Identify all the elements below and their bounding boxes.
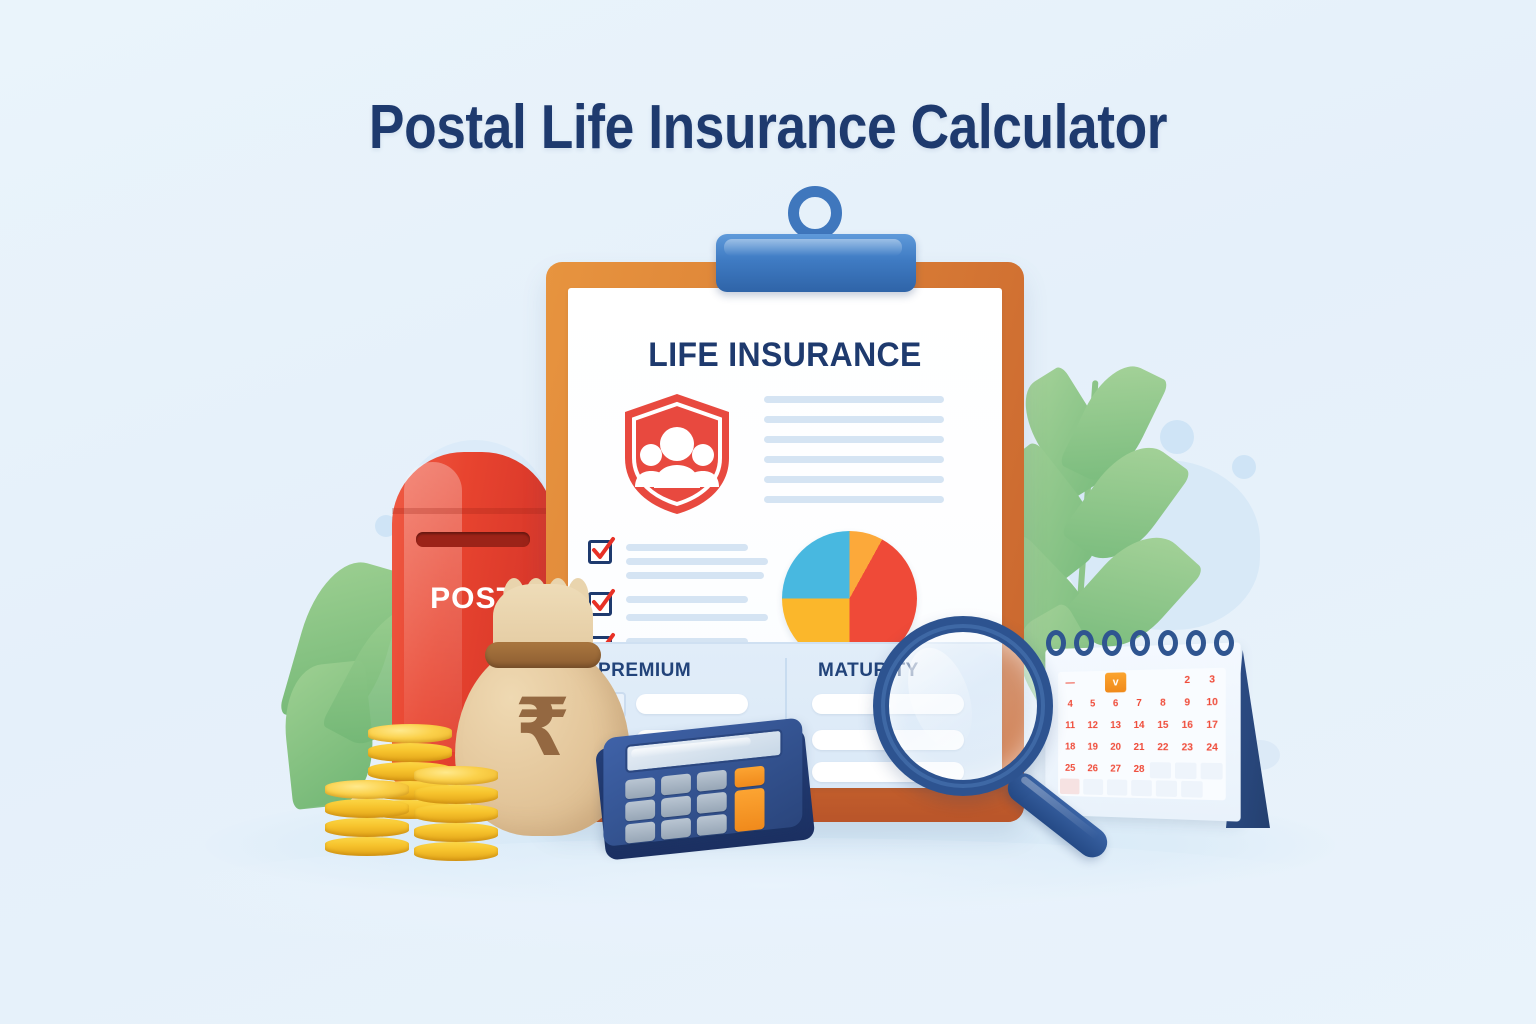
- postbox-band: [392, 508, 554, 514]
- coin-stack-left: [325, 780, 409, 880]
- calculator[interactable]: [594, 717, 816, 868]
- calendar-grid: — v 2 3 4 5 6 7 8 9 10 11 12 13 14 15 16…: [1058, 668, 1226, 801]
- calculator-function-key[interactable]: [735, 788, 765, 832]
- calculator-key[interactable]: [661, 795, 691, 817]
- calculator-key[interactable]: [697, 770, 727, 792]
- calendar-sheet: — v 2 3 4 5 6 7 8 9 10 11 12 13 14 15 16…: [1045, 642, 1240, 821]
- calculator-equals-key[interactable]: [735, 766, 765, 788]
- decorative-circle: [1232, 455, 1256, 479]
- calculator-key[interactable]: [661, 773, 691, 795]
- calculator-key[interactable]: [625, 821, 655, 843]
- family-shield-icon: [621, 392, 733, 516]
- magnifying-glass[interactable]: [873, 616, 1073, 866]
- calculator-key[interactable]: [625, 777, 655, 799]
- clipboard-clip-icon: [716, 216, 916, 294]
- calculator-face: [603, 717, 802, 847]
- clip-bar: [716, 234, 916, 292]
- clip-ring: [788, 186, 842, 240]
- calculator-key[interactable]: [697, 814, 727, 836]
- illustration-stage: Postal Life Insurance Calculator — v: [0, 0, 1536, 1024]
- calendar-highlight-cell: v: [1105, 672, 1126, 692]
- decorative-circle: [1160, 420, 1194, 454]
- coin-stack-right: [414, 766, 498, 876]
- premium-value-field[interactable]: [636, 694, 748, 714]
- desk-calendar: — v 2 3 4 5 6 7 8 9 10 11 12 13 14 15 16…: [1040, 628, 1272, 828]
- page-title: Postal Life Insurance Calculator: [108, 92, 1429, 163]
- magnifier-lens: [873, 616, 1053, 796]
- bag-tie: [485, 642, 601, 668]
- calculator-key[interactable]: [625, 799, 655, 821]
- postbox-mail-slot: [416, 532, 530, 547]
- magnifier-inner-ring: [881, 624, 1045, 788]
- calculator-key[interactable]: [697, 792, 727, 814]
- calculator-key[interactable]: [661, 818, 691, 840]
- checkbox-checked[interactable]: [588, 540, 612, 564]
- document-heading: LIFE INSURANCE: [581, 336, 989, 375]
